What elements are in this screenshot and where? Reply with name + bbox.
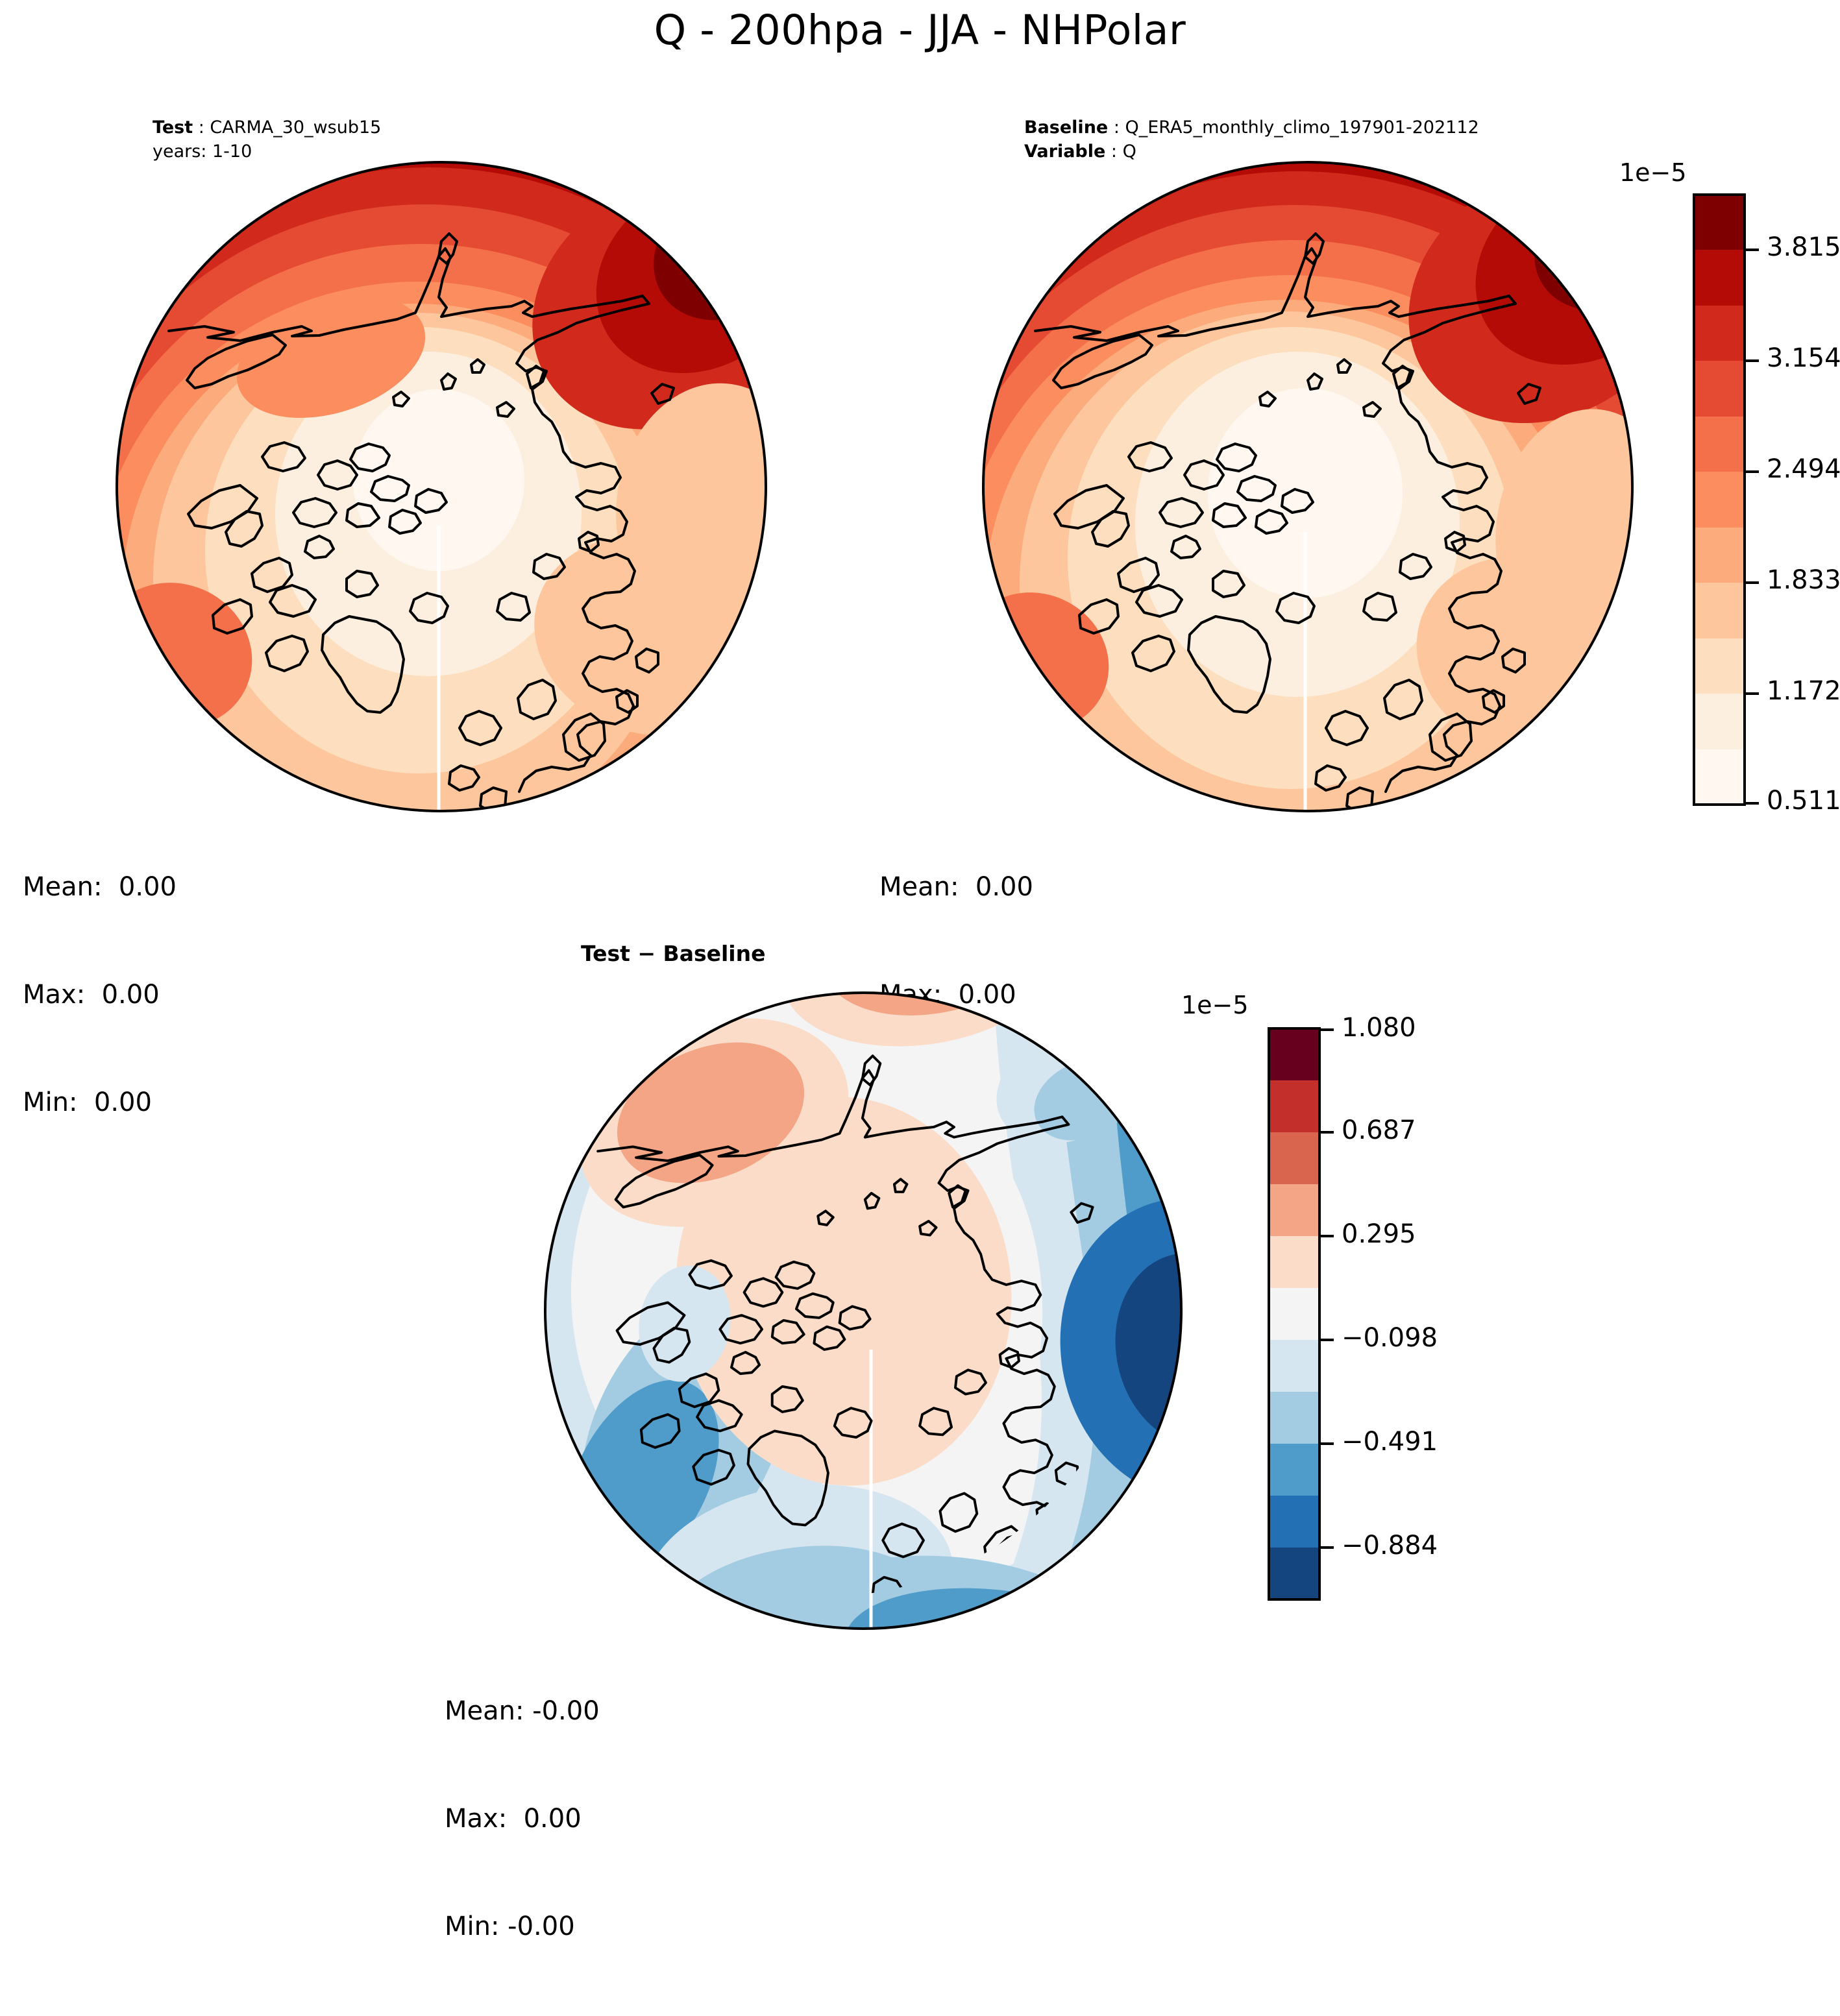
baseline-dataset-name: Q_ERA5_monthly_climo_197901-202112 bbox=[1125, 117, 1479, 138]
test-dataset-name: CARMA_30_wsub15 bbox=[210, 117, 381, 138]
diverging-colorbar-tick-1: 0.687 bbox=[1342, 1115, 1416, 1145]
baseline-label-key: Baseline bbox=[1024, 117, 1108, 138]
difference-panel-title: Test − Baseline bbox=[581, 941, 766, 966]
sequential-colorbar-tick-1: 3.154 bbox=[1767, 343, 1840, 373]
sequential-colorbar-multiplier: 1e−5 bbox=[1619, 158, 1687, 187]
baseline-label-sep: : bbox=[1108, 117, 1125, 138]
baseline-map bbox=[944, 143, 1671, 831]
diverging-colorbar-bands bbox=[1269, 1028, 1319, 1599]
sequential-colorbar-tick-3: 1.833 bbox=[1767, 565, 1840, 595]
test-stat-min: Min: 0.00 bbox=[23, 1085, 177, 1121]
sequential-colorbar-tick-2: 2.494 bbox=[1767, 454, 1840, 484]
difference-panel-stats: Mean: -0.00 Max: 0.00 Min: -0.00 bbox=[445, 1622, 600, 2016]
page-title: Q - 200hpa - JJA - NHPolar bbox=[0, 6, 1840, 54]
test-label-sep: : bbox=[193, 117, 210, 138]
test-map bbox=[78, 143, 805, 831]
figure-canvas: Q - 200hpa - JJA - NHPolar Test : CARMA_… bbox=[0, 0, 1840, 1731]
sequential-colorbar-bands bbox=[1694, 195, 1745, 805]
diverging-colorbar-tick-3: −0.098 bbox=[1342, 1323, 1438, 1353]
baseline-stat-mean: Mean: 0.00 bbox=[879, 869, 1033, 905]
difference-stat-max: Max: 0.00 bbox=[445, 1801, 600, 1837]
sequential-colorbar-tick-5: 0.511 bbox=[1767, 786, 1840, 816]
sequential-colorbar-tick-4: 1.172 bbox=[1767, 676, 1840, 706]
difference-stat-mean: Mean: -0.00 bbox=[445, 1694, 600, 1729]
sequential-colorbar-ticks bbox=[1745, 250, 1759, 803]
sequential-colorbar[interactable]: 1e−5 3.815 3.154 2.494 1.833 1.172 0.511 bbox=[1694, 195, 1759, 805]
test-map-contours bbox=[18, 130, 849, 914]
test-stat-max: Max: 0.00 bbox=[23, 977, 177, 1013]
diverging-colorbar-tick-0: 1.080 bbox=[1342, 1013, 1416, 1043]
test-panel-stats: Mean: 0.00 Max: 0.00 Min: 0.00 bbox=[23, 798, 177, 1192]
diverging-colorbar-tick-2: 0.295 bbox=[1342, 1219, 1416, 1249]
test-stat-mean: Mean: 0.00 bbox=[23, 869, 177, 905]
diverging-colorbar-tick-5: −0.884 bbox=[1342, 1531, 1438, 1561]
test-label-key: Test bbox=[153, 117, 193, 138]
difference-map bbox=[539, 986, 1246, 1642]
difference-stat-min: Min: -0.00 bbox=[445, 1909, 600, 1945]
sequential-colorbar-tick-0: 3.815 bbox=[1767, 232, 1840, 262]
diverging-colorbar-ticks bbox=[1319, 1030, 1334, 1548]
diverging-colorbar-tick-4: −0.491 bbox=[1342, 1427, 1438, 1457]
diverging-colorbar[interactable]: 1e−5 1.080 0.687 0.295 −0.098 −0.491 −0.… bbox=[1269, 1028, 1334, 1599]
diverging-colorbar-multiplier: 1e−5 bbox=[1181, 991, 1249, 1019]
